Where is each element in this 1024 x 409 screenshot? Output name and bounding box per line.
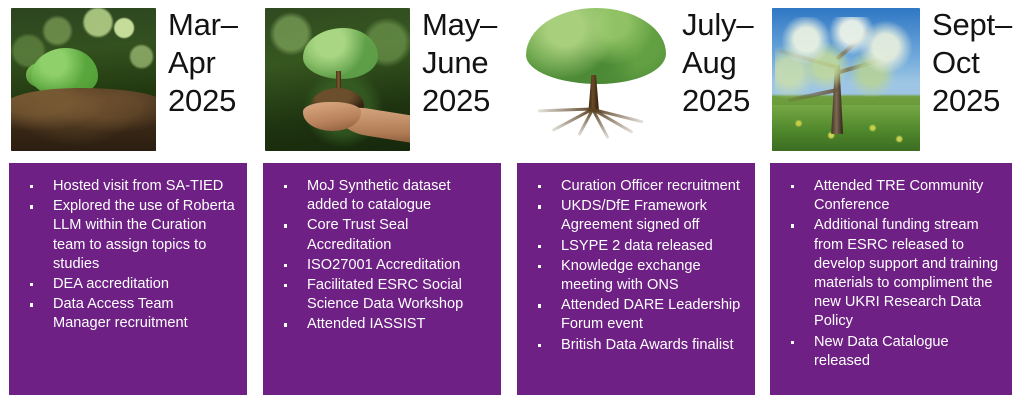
panel-header: July– Aug 2025 — [508, 0, 764, 155]
list-item: Explored the use of Roberta LLM within t… — [19, 197, 237, 274]
blossoming-apple-tree-photo — [772, 8, 920, 151]
achievements-card: Attended TRE Community Conference Additi… — [770, 163, 1012, 395]
list-item: LSYPE 2 data released — [527, 237, 745, 256]
list-item: Additional funding stream from ESRC rele… — [780, 216, 1002, 331]
hand-holding-sapling-photo — [265, 8, 410, 151]
panel-date-heading: Mar– Apr 2025 — [168, 6, 252, 120]
list-item: Facilitated ESRC Social Science Data Wor… — [273, 276, 491, 314]
achievements-list: Attended TRE Community Conference Additi… — [780, 177, 1002, 371]
list-item: Core Trust Seal Accreditation — [273, 216, 491, 254]
list-item: Curation Officer recruitment — [527, 177, 745, 196]
list-item: ISO27001 Accreditation — [273, 256, 491, 275]
sapling-in-soil-photo — [11, 8, 156, 151]
timeline-panel-mar-apr: Mar– Apr 2025 Hosted visit from SA-TIED … — [0, 0, 256, 409]
list-item: Knowledge exchange meeting with ONS — [527, 257, 745, 295]
list-item: British Data Awards finalist — [527, 336, 745, 355]
timeline-panel-july-aug: July– Aug 2025 Curation Officer recruitm… — [508, 0, 764, 409]
list-item: DEA accreditation — [19, 275, 237, 294]
timeline-panel-may-june: May– June 2025 MoJ Synthetic dataset add… — [254, 0, 510, 409]
achievements-card: Hosted visit from SA-TIED Explored the u… — [9, 163, 247, 395]
achievements-list: Hosted visit from SA-TIED Explored the u… — [19, 177, 237, 334]
panel-date-heading: July– Aug 2025 — [682, 6, 760, 120]
list-item: Hosted visit from SA-TIED — [19, 177, 237, 196]
list-item: Data Access Team Manager recruitment — [19, 295, 237, 333]
list-item: New Data Catalogue released — [780, 333, 1002, 371]
achievements-card: MoJ Synthetic dataset added to catalogue… — [263, 163, 501, 395]
list-item: Attended TRE Community Conference — [780, 177, 1002, 215]
achievements-card: Curation Officer recruitment UKDS/DfE Fr… — [517, 163, 755, 395]
panel-header: Mar– Apr 2025 — [0, 0, 256, 155]
achievements-list: Curation Officer recruitment UKDS/DfE Fr… — [527, 177, 745, 355]
list-item: Attended IASSIST — [273, 315, 491, 334]
panel-header: Sept– Oct 2025 — [762, 0, 1024, 155]
tree-with-roots-illustration — [520, 2, 672, 154]
achievements-list: MoJ Synthetic dataset added to catalogue… — [273, 177, 491, 335]
list-item: MoJ Synthetic dataset added to catalogue — [273, 177, 491, 215]
timeline-panel-sept-oct: Sept– Oct 2025 Attended TRE Community Co… — [762, 0, 1024, 409]
panel-date-heading: Sept– Oct 2025 — [932, 6, 1020, 120]
list-item: UKDS/DfE Framework Agreement signed off — [527, 197, 745, 235]
panel-header: May– June 2025 — [254, 0, 510, 155]
panel-date-heading: May– June 2025 — [422, 6, 506, 120]
list-item: Attended DARE Leadership Forum event — [527, 296, 745, 334]
timeline-slide: Mar– Apr 2025 Hosted visit from SA-TIED … — [0, 0, 1024, 409]
